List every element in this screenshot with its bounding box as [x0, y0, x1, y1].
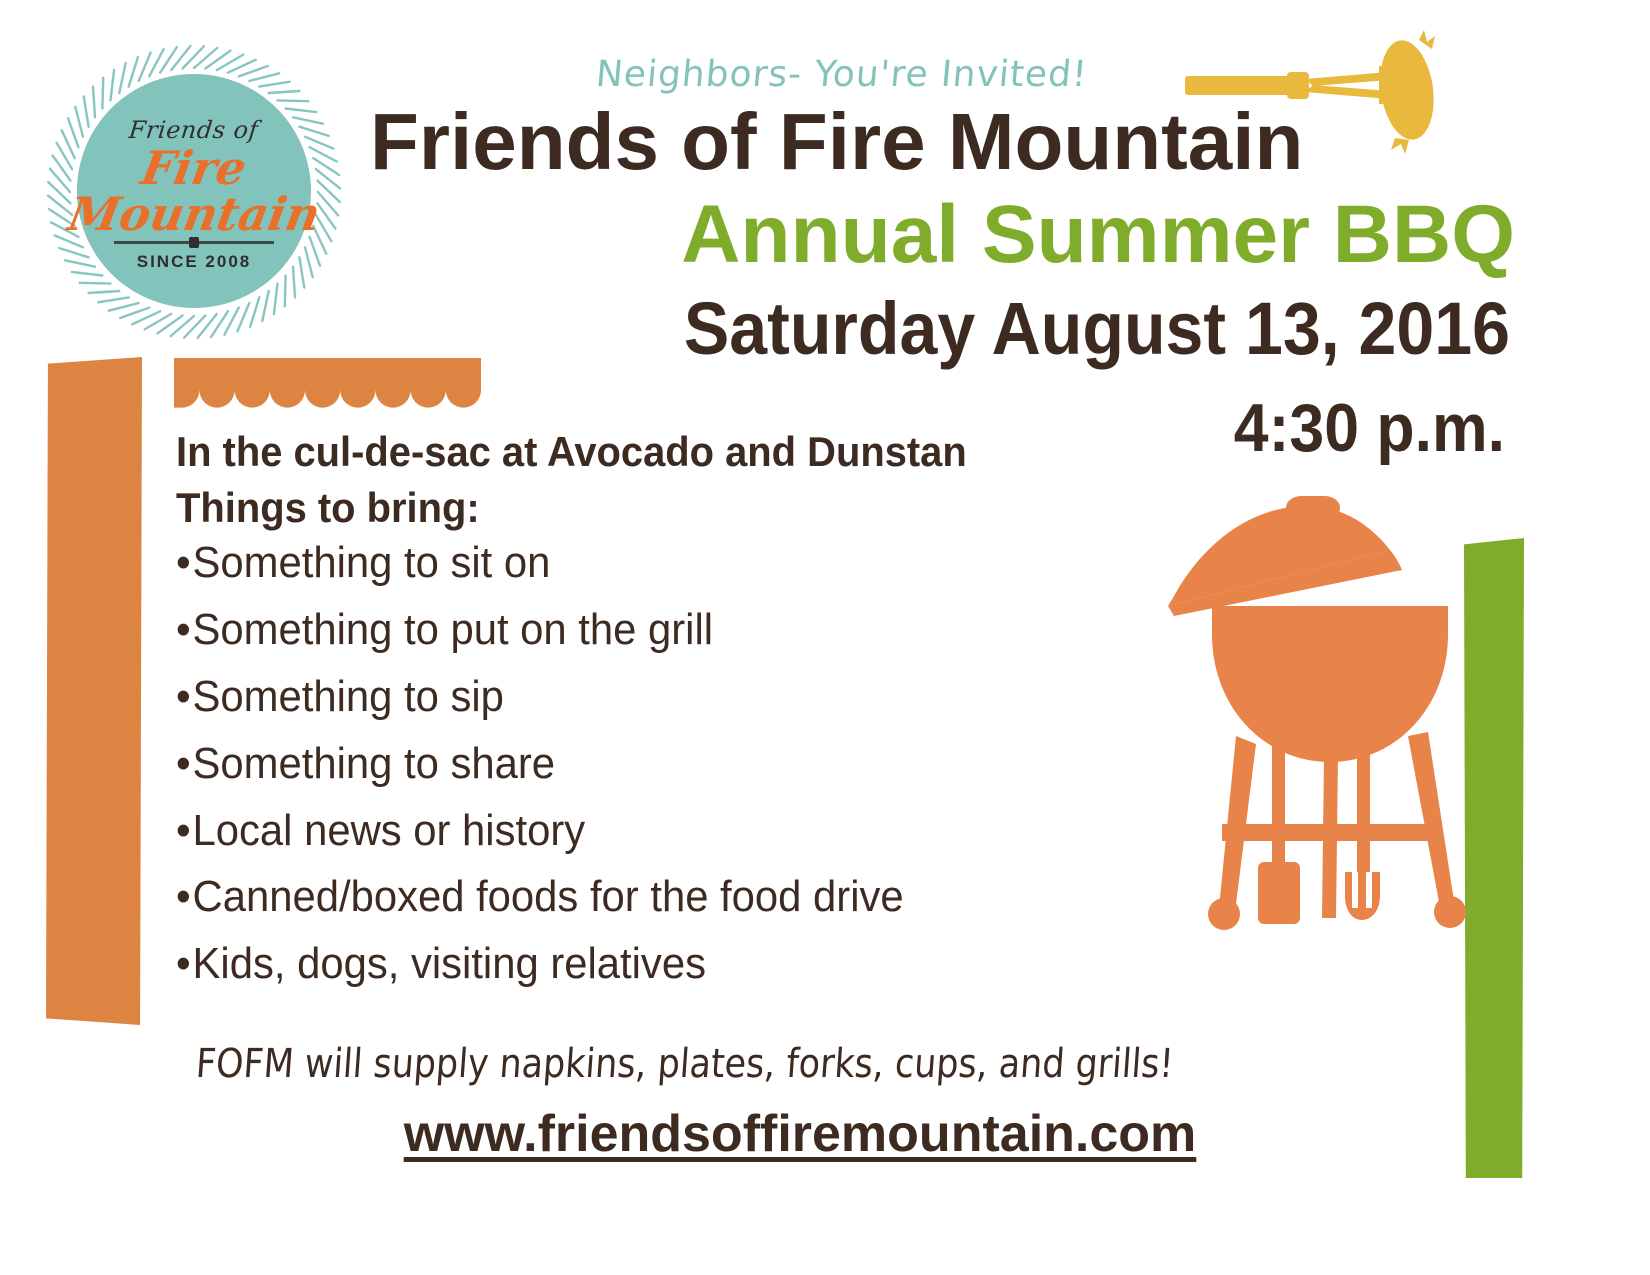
- green-accent-bar: [1464, 538, 1524, 1178]
- event-title: Annual Summer BBQ: [370, 196, 1515, 274]
- flyer-canvas: Friends of Fire Mountain SINCE 2008 Neig…: [0, 0, 1650, 1275]
- location-line: In the cul-de-sac at Avocado and Dunstan: [176, 428, 967, 476]
- logo-divider-rule: [114, 241, 274, 244]
- bring-heading: Things to bring:: [176, 484, 480, 532]
- kettle-grill-icon: [1152, 484, 1472, 932]
- invitation-line: Neighbors- You're Invited!: [594, 54, 1089, 95]
- logo-badge: Friends of Fire Mountain SINCE 2008: [44, 42, 344, 342]
- logo-since-text: SINCE 2008: [137, 252, 252, 272]
- list-item: Something to sit on: [176, 530, 1126, 597]
- logo-fire-text: Fire: [138, 146, 250, 191]
- organization-title: Friends of Fire Mountain: [370, 104, 1490, 180]
- things-to-bring-list: Something to sit on Something to put on …: [176, 530, 1176, 998]
- list-item: Kids, dogs, visiting relatives: [176, 931, 1126, 998]
- event-date: Saturday August 13, 2016: [461, 292, 1510, 366]
- logo-mountain-text: Mountain: [65, 192, 323, 237]
- list-item: Something to put on the grill: [176, 597, 1126, 664]
- list-item: Canned/boxed foods for the food drive: [176, 864, 1126, 931]
- website-url[interactable]: www.friendsoffiremountain.com: [0, 1104, 1600, 1164]
- logo-inner-text: Friends of Fire Mountain SINCE 2008: [77, 74, 311, 308]
- list-item: Something to share: [176, 731, 1126, 798]
- supplies-note: FOFM will supply napkins, plates, forks,…: [194, 1041, 1175, 1087]
- list-item: Local news or history: [176, 798, 1126, 865]
- awning-icon: [174, 358, 481, 420]
- list-item: Something to sip: [176, 664, 1126, 731]
- orange-accent-bar: [46, 357, 142, 1025]
